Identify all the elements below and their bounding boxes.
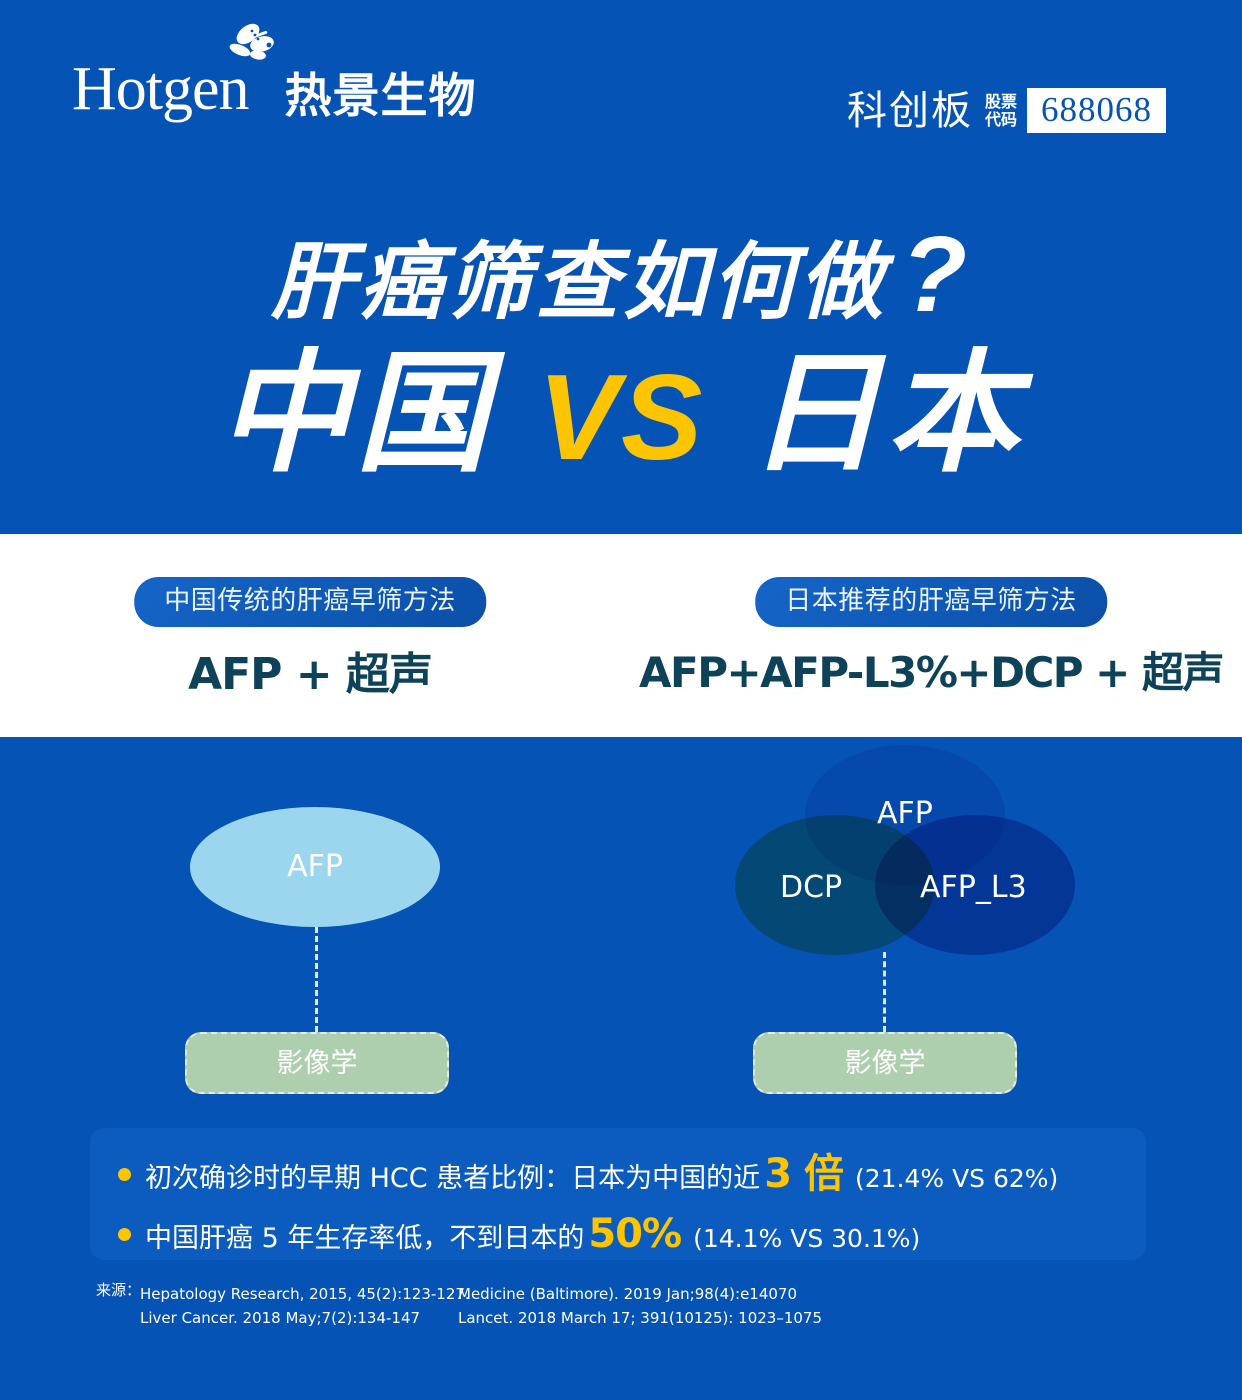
hero-country-right: 日本: [748, 337, 1024, 491]
bullet-dot-icon: [118, 1168, 131, 1181]
hero-vs-line: 中国VS日本: [0, 348, 1242, 480]
infographic-page: Hotgen 热景生物 科创板 股票 代码: [0, 0, 1242, 1400]
brand-logo: Hotgen 热景生物: [72, 58, 477, 120]
source-line: Liver Cancer. 2018 May;7(2):134-147: [140, 1306, 470, 1330]
diagram-section: AFP 影像学 AFP DCP AFP_L3 影像学: [0, 737, 1242, 1127]
sources-label: 来源：: [96, 1283, 141, 1298]
hero-country-left: 中国: [218, 337, 494, 491]
ellipse-afp-label: AFP: [287, 852, 343, 882]
hero-vs-label: VS: [538, 349, 705, 485]
imaging-box-left: 影像学: [185, 1032, 449, 1094]
comparison-column-china: 中国传统的肝癌早筛方法 AFP + 超声: [0, 534, 620, 737]
source-line: Medicine (Baltimore). 2019 Jan;98(4):e14…: [458, 1282, 822, 1306]
sources-column-b: Medicine (Baltimore). 2019 Jan;98(4):e14…: [458, 1282, 822, 1331]
stat-text: 初次确诊时的早期 HCC 患者比例：日本为中国的近: [145, 1165, 760, 1192]
venn-label-afp: AFP: [877, 799, 933, 829]
sources-section: 来源： Hepatology Research, 2015, 45(2):123…: [96, 1282, 1156, 1352]
source-line: Lancet. 2018 March 17; 391(10125): 1023–…: [458, 1306, 822, 1330]
stat-text: 中国肝癌 5 年生存率低，不到日本的: [145, 1225, 584, 1252]
imaging-box-right: 影像学: [753, 1032, 1017, 1094]
stats-panel: 初次确诊时的早期 HCC 患者比例：日本为中国的近 3 倍 (21.4% VS …: [90, 1128, 1146, 1260]
brand-name-en: Hotgen: [72, 58, 249, 120]
connector-dashed-left: [315, 927, 318, 1032]
brand-name-cn: 热景生物: [285, 73, 477, 120]
diagram-japan: AFP DCP AFP_L3 影像学: [620, 737, 1242, 1127]
question-mark-icon: ?: [901, 213, 971, 334]
stat-paren: (14.1% VS 30.1%): [693, 1226, 920, 1251]
stat-row: 初次确诊时的早期 HCC 患者比例：日本为中国的近 3 倍 (21.4% VS …: [118, 1154, 1058, 1194]
bullet-dot-icon: [118, 1228, 131, 1241]
venn-diagram: AFP DCP AFP_L3: [725, 745, 1055, 975]
ticker-board-name: 科创板: [847, 91, 973, 131]
comparison-column-japan: 日本推荐的肝癌早筛方法 AFP+AFP-L3%+DCP + 超声: [620, 534, 1242, 737]
hero-question: 肝癌筛查如何做?: [0, 220, 1242, 328]
butterfly-icon: [224, 20, 284, 76]
stock-ticker: 科创板 股票 代码 688068: [847, 88, 1166, 133]
method-japan: AFP+AFP-L3%+DCP + 超声: [639, 647, 1223, 700]
sources-column-a: Hepatology Research, 2015, 45(2):123-127…: [140, 1282, 470, 1331]
ellipse-afp: AFP: [190, 807, 440, 927]
stat-highlight: 3 倍: [764, 1154, 843, 1194]
stat-highlight: 50%: [588, 1214, 681, 1254]
hero-question-text: 肝癌筛查如何做: [271, 233, 887, 331]
stat-row: 中国肝癌 5 年生存率低，不到日本的 50% (14.1% VS 30.1%): [118, 1214, 920, 1254]
pill-china-method: 中国传统的肝癌早筛方法: [134, 577, 486, 627]
stat-paren: (21.4% VS 62%): [855, 1166, 1058, 1191]
ticker-label-line1: 股票: [985, 93, 1017, 111]
method-china: AFP + 超声: [188, 647, 432, 702]
comparison-band: 中国传统的肝癌早筛方法 AFP + 超声 日本推荐的肝癌早筛方法 AFP+AFP…: [0, 534, 1242, 737]
source-line: Hepatology Research, 2015, 45(2):123-127…: [140, 1282, 470, 1306]
ticker-label-line2: 代码: [985, 111, 1017, 129]
venn-label-dcp: DCP: [780, 873, 842, 903]
hero-section: 肝癌筛查如何做? 中国VS日本: [0, 200, 1242, 530]
venn-label-afp-l3: AFP_L3: [920, 873, 1027, 903]
header: Hotgen 热景生物 科创板 股票 代码: [0, 0, 1242, 160]
pill-japan-method: 日本推荐的肝癌早筛方法: [755, 577, 1107, 627]
ticker-code: 688068: [1027, 88, 1166, 133]
ticker-label: 股票 代码: [985, 93, 1017, 129]
diagram-china: AFP 影像学: [0, 737, 620, 1127]
connector-dashed-right: [883, 952, 886, 1032]
